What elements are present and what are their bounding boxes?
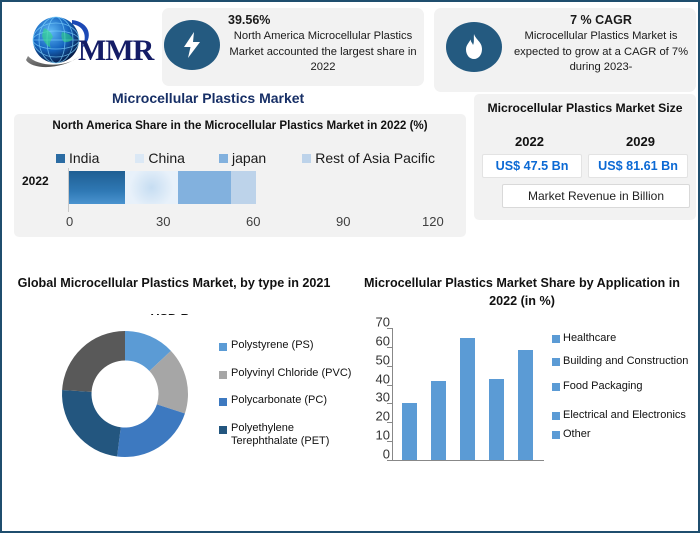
market-size-value-2029: US$ 81.61 Bn <box>588 154 688 178</box>
legend-swatch <box>552 431 560 439</box>
chart-title: Microcellular Plastics Market Share by A… <box>364 274 680 310</box>
legend-swatch <box>135 154 144 163</box>
legend-label: China <box>148 150 185 166</box>
stat-description: Microcellular Plastics Market is expecte… <box>508 29 694 76</box>
market-size-value-2022: US$ 47.5 Bn <box>482 154 582 178</box>
donut-legend: Polystyrene (PS) Polyvinyl Chloride (PVC… <box>219 339 359 463</box>
x-tick: 90 <box>336 214 350 229</box>
market-size-panel: Microcellular Plastics Market Size 2022 … <box>474 94 696 220</box>
legend-label: Building and Construction <box>563 355 688 368</box>
bar-segment-india <box>69 171 125 204</box>
legend-item-food-packaging: Food Packaging <box>552 380 692 393</box>
legend-item-electrical-and-electronics: Electrical and Electronics <box>552 409 692 422</box>
chart-legend: India China japan Rest of Asia Pacific <box>48 150 460 166</box>
donut-chart <box>58 327 192 461</box>
legend-item-polystyrene: Polystyrene (PS) <box>219 339 359 353</box>
x-tick: 120 <box>422 214 444 229</box>
legend-swatch <box>552 383 560 391</box>
bar-healthcare <box>402 403 417 460</box>
legend-swatch <box>219 371 227 379</box>
donut-slice-pet <box>62 390 121 456</box>
chart-title: North America Share in the Microcellular… <box>14 118 466 133</box>
flame-icon <box>446 22 502 72</box>
legend-label: Healthcare <box>563 332 616 345</box>
bar-other <box>518 350 533 460</box>
legend-swatch <box>552 335 560 343</box>
legend-swatch <box>552 412 560 420</box>
legend-item-polycarbonate: Polycarbonate (PC) <box>219 394 359 408</box>
legend-item-building-and-construction: Building and Construction <box>552 355 692 368</box>
brand-name: MMR <box>78 34 153 68</box>
bar-building-and-construction <box>431 381 446 460</box>
x-axis-ticks: 0 30 60 90 120 <box>48 214 446 230</box>
legend-swatch <box>219 343 227 351</box>
bar-segment-japan <box>178 171 231 204</box>
stacked-bar-2022 <box>69 171 256 204</box>
legend-label: Polystyrene (PS) <box>231 339 314 353</box>
y-tickmark <box>387 328 392 329</box>
legend-item-japan: japan <box>219 150 266 166</box>
y-tickmark <box>387 385 392 386</box>
y-tickmark <box>387 460 392 461</box>
legend-swatch <box>56 154 65 163</box>
x-tick: 30 <box>156 214 170 229</box>
page-title: Microcellular Plastics Market <box>112 90 304 106</box>
column-legend: Healthcare Building and Construction Foo… <box>552 332 692 451</box>
column-chart-block: Microcellular Plastics Market Share by A… <box>364 270 698 515</box>
donut-slice-other <box>62 331 125 392</box>
x-axis-line <box>392 460 544 461</box>
market-size-year-2022: 2022 <box>474 134 585 149</box>
y-axis-line <box>392 328 393 460</box>
market-size-title: Microcellular Plastics Market Size <box>474 100 696 116</box>
y-tickmark <box>387 347 392 348</box>
legend-swatch <box>302 154 311 163</box>
donut-slice-polycarbonate <box>117 404 185 457</box>
legend-item-pet: Polyethylene Terephthalate (PET) <box>219 422 359 449</box>
bar-electrical-and-electronics <box>489 379 504 460</box>
axis-category-label: 2022 <box>22 174 49 188</box>
legend-label: Polyvinyl Chloride (PVC) <box>231 367 351 381</box>
legend-item-india: India <box>56 150 99 166</box>
brand-logo: MMR <box>16 8 158 80</box>
legend-label: Electrical and Electronics <box>563 409 686 422</box>
lightning-bolt-icon <box>164 20 220 70</box>
legend-label: Food Packaging <box>563 380 643 393</box>
column-bars <box>396 328 546 460</box>
bar-segment-china <box>125 171 178 204</box>
infographic-canvas: MMR 39.56% North America Microcellular P… <box>0 0 700 533</box>
stat-card-cagr: 7 % CAGR Microcellular Plastics Market i… <box>434 8 696 92</box>
y-tickmark <box>387 441 392 442</box>
chart-subtitle-text: USD Bn <box>16 310 332 315</box>
legend-label: Polyethylene Terephthalate (PET) <box>231 422 359 449</box>
legend-label: India <box>69 150 99 166</box>
legend-label: Other <box>563 428 591 441</box>
stat-card-market-share: 39.56% North America Microcellular Plast… <box>162 8 424 86</box>
market-size-note: Market Revenue in Billion <box>502 184 690 208</box>
legend-item-other: Other <box>552 428 692 441</box>
legend-swatch <box>219 398 227 406</box>
stat-description: North America Microcellular Plastics Mar… <box>224 29 422 76</box>
chart-subtitle-clipped: USD Bn <box>16 310 332 315</box>
bar-segment-rest-of-asia-pacific <box>231 171 256 204</box>
legend-label: Rest of Asia Pacific <box>315 150 435 166</box>
y-tickmark <box>387 403 392 404</box>
donut-chart-block: Global Microcellular Plastics Market, by… <box>16 270 356 515</box>
x-tick: 60 <box>246 214 260 229</box>
legend-label: Polycarbonate (PC) <box>231 394 327 408</box>
legend-swatch <box>219 154 228 163</box>
legend-item-pvc: Polyvinyl Chloride (PVC) <box>219 367 359 381</box>
legend-item-china: China <box>135 150 185 166</box>
legend-swatch <box>219 426 227 434</box>
stat-headline: 7 % CAGR <box>508 12 694 29</box>
legend-label: japan <box>232 150 266 166</box>
legend-swatch <box>552 358 560 366</box>
stat-headline: 39.56% <box>224 12 422 29</box>
y-tickmark <box>387 366 392 367</box>
legend-item-rest-of-asia-pacific: Rest of Asia Pacific <box>302 150 435 166</box>
x-tick: 0 <box>66 214 73 229</box>
y-tickmark <box>387 422 392 423</box>
bar-food-packaging <box>460 338 475 460</box>
stacked-bar-plot <box>68 168 446 206</box>
chart-title: Global Microcellular Plastics Market, by… <box>16 274 332 292</box>
market-size-year-2029: 2029 <box>585 134 696 149</box>
legend-item-healthcare: Healthcare <box>552 332 692 345</box>
